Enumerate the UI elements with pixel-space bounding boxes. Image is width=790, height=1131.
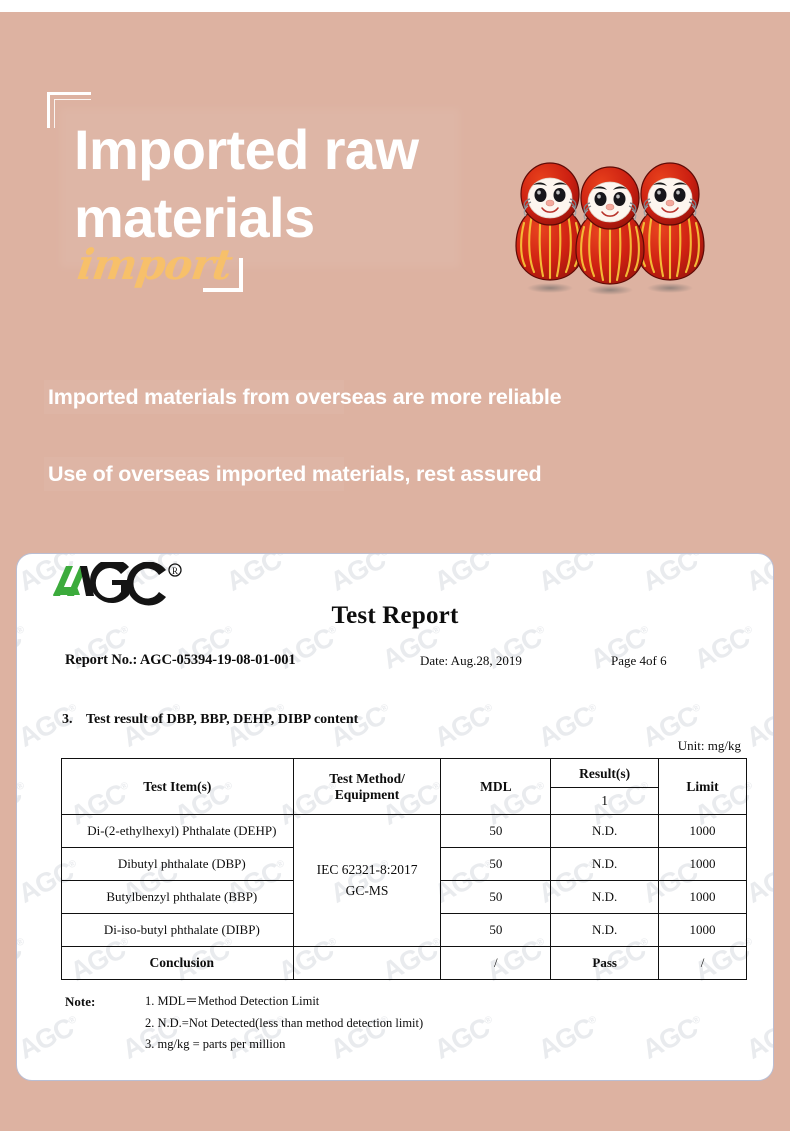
cell-mdl: 50 xyxy=(441,815,551,848)
status-badge: Pass xyxy=(551,947,659,980)
col-header-test-method-line1: Test Method/ xyxy=(294,771,441,787)
report-meta-row: Report No.: AGC-05394-19-08-01-001 Date:… xyxy=(17,652,773,672)
agc-logo: R xyxy=(47,562,207,606)
col-header-limit: Limit xyxy=(659,759,747,815)
cell-conclusion-method xyxy=(293,947,441,980)
table-body: Di-(2-ethylhexyl) Phthalate (DEHP) IEC 6… xyxy=(62,815,747,980)
cell-result: N.D. xyxy=(551,815,659,848)
note-line: 1. MDL＝Method Detection Limit xyxy=(145,991,423,1013)
cell-mdl: 50 xyxy=(441,848,551,881)
col-header-results: Result(s) 1 xyxy=(551,759,659,815)
test-report-card: AGC®AGC®AGC®AGC®AGC®AGC®AGC®AGC®AGC®AGC®… xyxy=(16,553,774,1081)
cell-result: N.D. xyxy=(551,881,659,914)
cell-result: N.D. xyxy=(551,914,659,947)
col-header-mdl: MDL xyxy=(441,759,551,815)
cell-conclusion-label: Conclusion xyxy=(62,947,294,980)
note-line: 3. mg/kg = parts per million xyxy=(145,1034,423,1056)
hero-headline: Imported raw materials xyxy=(74,116,504,253)
cell-mdl: 50 xyxy=(441,914,551,947)
section-number: 3. xyxy=(62,712,86,728)
hero-subline-2: Use of overseas imported materials, rest… xyxy=(48,462,542,487)
table-row-conclusion: Conclusion / Pass / xyxy=(62,947,747,980)
cell-test-item: Di-(2-ethylhexyl) Phthalate (DEHP) xyxy=(62,815,294,848)
cell-conclusion-mdl: / xyxy=(441,947,551,980)
report-date: Date: Aug.28, 2019 xyxy=(420,653,522,669)
report-number: Report No.: AGC-05394-19-08-01-001 xyxy=(65,652,296,669)
method-equipment: GC-MS xyxy=(294,881,441,901)
hero-subline-1: Imported materials from overseas are mor… xyxy=(48,385,561,410)
method-standard: IEC 62321-8:2017 xyxy=(294,860,441,880)
cell-conclusion-limit: / xyxy=(659,947,747,980)
notes-block: Note: 1. MDL＝Method Detection Limit 2. N… xyxy=(65,991,423,1056)
svg-text:R: R xyxy=(172,566,178,576)
cell-test-item: Di-iso-butyl phthalate (DIBP) xyxy=(62,914,294,947)
table-row: Di-(2-ethylhexyl) Phthalate (DEHP) IEC 6… xyxy=(62,815,747,848)
cell-test-method: IEC 62321-8:2017 GC-MS xyxy=(293,815,441,947)
col-header-test-method: Test Method/ Equipment xyxy=(293,759,441,815)
unit-label: Unit: mg/kg xyxy=(678,738,741,754)
cell-test-item: Butylbenzyl phthalate (BBP) xyxy=(62,881,294,914)
page-root: Imported raw materials import Imported m… xyxy=(0,0,790,1131)
col-header-results-sample: 1 xyxy=(551,788,658,813)
cell-limit: 1000 xyxy=(659,914,747,947)
col-header-test-method-line2: Equipment xyxy=(294,787,441,803)
cell-limit: 1000 xyxy=(659,848,747,881)
section-heading: 3.Test result of DBP, BBP, DEHP, DIBP co… xyxy=(62,712,358,728)
cell-mdl: 50 xyxy=(441,881,551,914)
page-title: Test Report xyxy=(17,602,773,630)
report-page-number: Page 4of 6 xyxy=(611,653,667,669)
cell-result: N.D. xyxy=(551,848,659,881)
cell-limit: 1000 xyxy=(659,815,747,848)
cell-limit: 1000 xyxy=(659,881,747,914)
col-header-test-item: Test Item(s) xyxy=(62,759,294,815)
daruma-dolls-illustration xyxy=(505,154,715,299)
col-header-results-label: Result(s) xyxy=(551,760,658,788)
notes-list: 1. MDL＝Method Detection Limit 2. N.D.=No… xyxy=(145,991,423,1056)
test-result-table: Test Item(s) Test Method/ Equipment MDL … xyxy=(61,758,747,980)
table-header-row: Test Item(s) Test Method/ Equipment MDL … xyxy=(62,759,747,815)
hero-script-word: import xyxy=(75,240,235,289)
notes-label: Note: xyxy=(65,991,95,1013)
cell-test-item: Dibutyl phthalate (DBP) xyxy=(62,848,294,881)
section-title: Test result of DBP, BBP, DEHP, DIBP cont… xyxy=(86,712,358,727)
note-line: 2. N.D.=Not Detected(less than method de… xyxy=(145,1013,423,1035)
